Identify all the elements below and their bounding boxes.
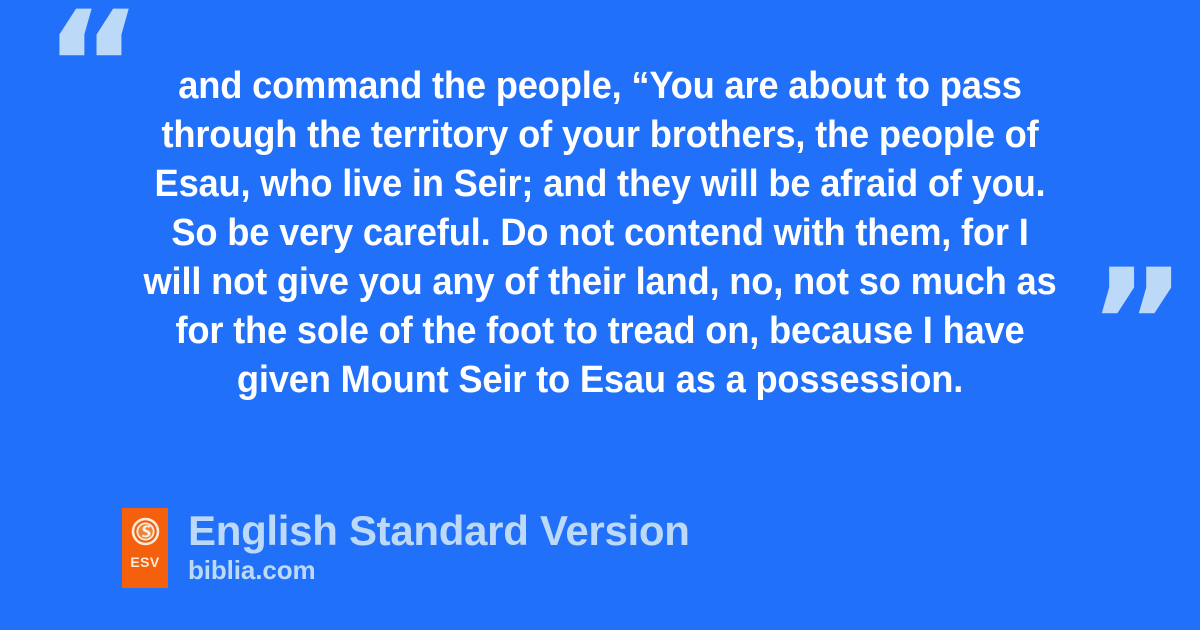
bible-verse-card: “ and command the people, “You are about… xyxy=(0,0,1200,630)
site-url-label: biblia.com xyxy=(188,556,690,584)
esv-abbreviation-label: ESV xyxy=(130,555,159,569)
verse-text: and command the people, “You are about t… xyxy=(123,62,1078,405)
bible-edition-name: English Standard Version xyxy=(188,509,690,553)
attribution-footer: ESV English Standard Version biblia.com xyxy=(122,508,690,588)
footer-text-group: English Standard Version biblia.com xyxy=(188,508,690,584)
esv-logo-badge: ESV xyxy=(122,508,168,588)
esv-seal-icon xyxy=(131,517,160,546)
close-quote-mark-icon: ” xyxy=(1088,250,1185,400)
quote-block: and command the people, “You are about t… xyxy=(100,62,1100,405)
